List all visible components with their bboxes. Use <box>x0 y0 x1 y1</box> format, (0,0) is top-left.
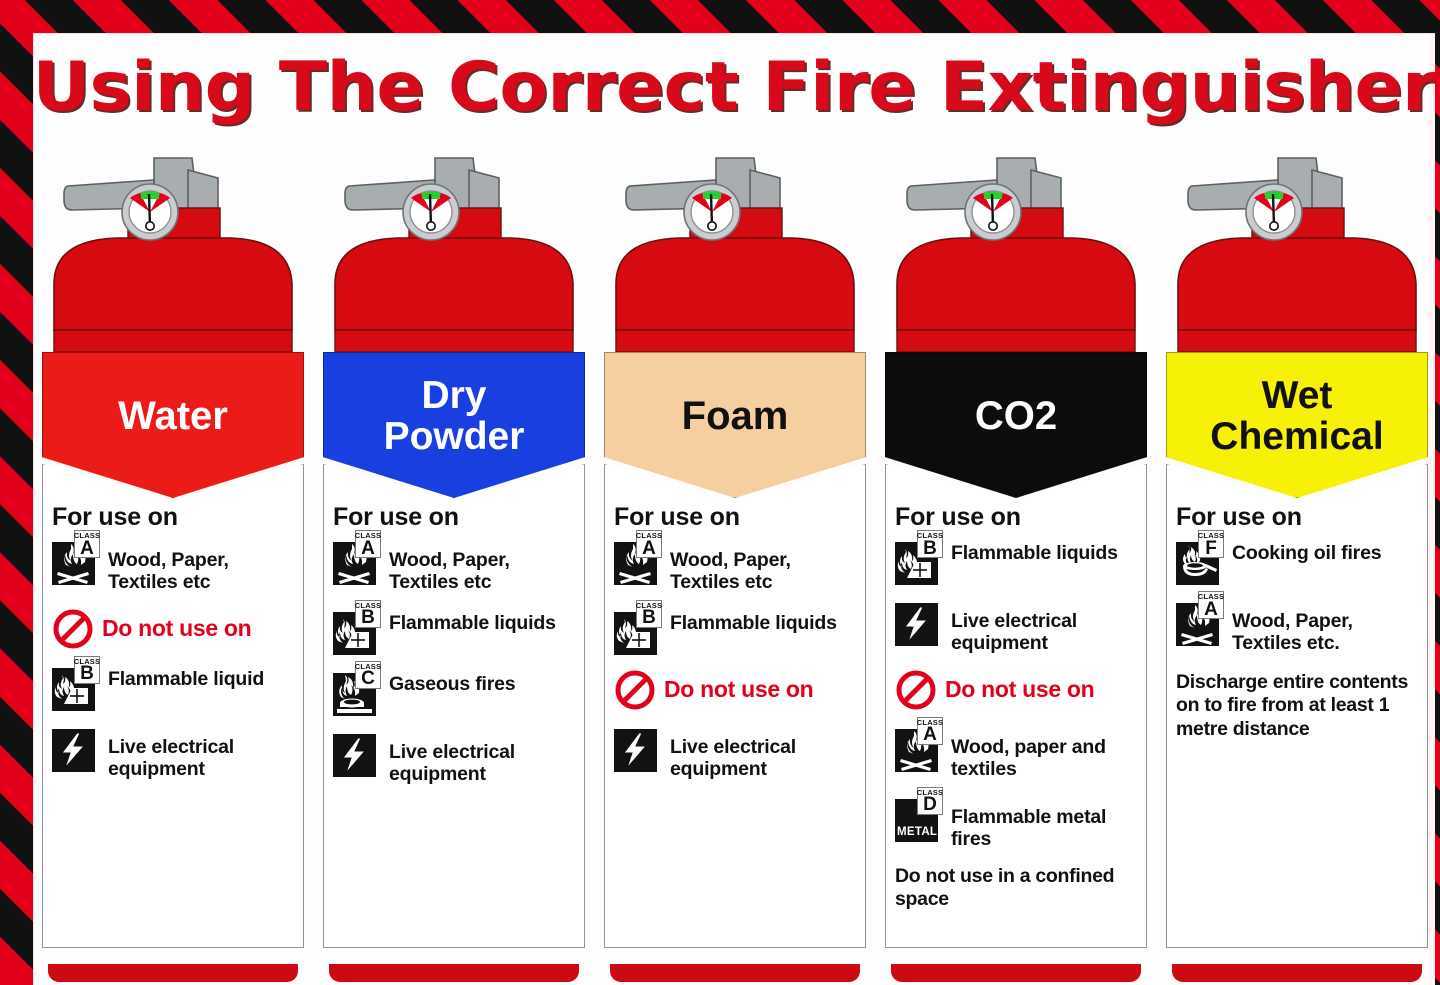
class-letter-label: A <box>361 539 375 558</box>
for-use-on-entry: CLASS A Wood, Paper,Textiles etc <box>614 538 857 594</box>
class-f-cooking-oil-icon: CLASS F <box>1176 538 1223 585</box>
for-use-on-heading: For use on <box>52 503 295 532</box>
extinguisher-head-icon <box>42 152 304 352</box>
extinguisher-base <box>610 964 860 982</box>
do-not-use-on-label: Do not use on <box>945 676 1094 703</box>
type-name-label: DryPowder <box>384 375 525 458</box>
class-a-wood-fire-icon: CLASS A <box>895 725 942 772</box>
class-badge-a: CLASS A <box>74 530 100 558</box>
class-badge-b: CLASS B <box>636 600 662 628</box>
entry-label: Live electricalequipment <box>670 725 796 781</box>
class-letter-label: B <box>361 608 375 627</box>
do-not-use-on-heading: Do not use on <box>895 669 1138 711</box>
do-not-use-on-heading: Do not use on <box>614 669 857 711</box>
class-letter-label: C <box>361 669 375 688</box>
lightning-bolt-icon <box>333 734 376 777</box>
for-use-on-heading: For use on <box>1176 503 1419 532</box>
extinguisher-base <box>48 964 298 982</box>
type-name-label: WetChemical <box>1210 375 1383 458</box>
entry-label: Flammable metalfires <box>951 795 1106 851</box>
lightning-bolt-icon <box>614 729 657 772</box>
pressure-gauge-icon <box>965 184 1021 240</box>
class-badge-a: CLASS A <box>355 530 381 558</box>
do-not-use-on-entry: METAL CLASS D Flammable metalfires <box>895 795 1138 851</box>
class-a-wood-fire-icon: CLASS A <box>333 538 380 585</box>
extinguisher-head-icon <box>323 152 585 352</box>
do-not-use-on-heading: Do not use on <box>52 608 295 650</box>
class-c-gas-fire-icon: CLASS C <box>333 669 380 716</box>
for-use-on-entry: CLASS B Flammable liquids <box>895 538 1138 585</box>
usage-info-panel: For use on CLASS A Wood, Paper,Textiles … <box>42 464 304 948</box>
no-entry-icon <box>895 669 937 711</box>
entry-label: Flammable liquid <box>108 664 264 690</box>
no-entry-icon <box>614 669 656 711</box>
class-letter-label: B <box>80 664 94 683</box>
class-badge-f: CLASS F <box>1198 530 1224 558</box>
pressure-gauge-icon <box>684 184 740 240</box>
lightning-bolt-icon <box>333 730 380 777</box>
for-use-on-entry: Live electricalequipment <box>333 730 576 786</box>
class-a-wood-fire-icon: CLASS A <box>52 538 99 585</box>
for-use-on-entry: CLASS A Wood, Paper,Textiles etc <box>333 538 576 594</box>
extinguisher-body-graphic <box>885 152 1147 352</box>
extinguisher-head-icon <box>1166 152 1428 352</box>
usage-info-panel: For use on CLASS A Wood, Paper,Textiles … <box>323 464 585 948</box>
class-badge-a: CLASS A <box>636 530 662 558</box>
extra-note: Do not use in a confined space <box>895 865 1138 912</box>
entry-label: Wood, paper andtextiles <box>951 725 1106 781</box>
extinguisher-body-graphic <box>323 152 585 352</box>
extinguisher-base <box>891 964 1141 982</box>
usage-info-panel: For use on CLASS F Cooking oil fires <box>1166 464 1428 948</box>
extinguisher-head-icon <box>885 152 1147 352</box>
extinguisher-columns: Water For use on CLASS A Wood, Paper,Tex… <box>42 152 1428 982</box>
do-not-use-on-label: Do not use on <box>664 676 813 703</box>
do-not-use-on-entry: Live electricalequipment <box>52 725 295 781</box>
extinguisher-card-foam[interactable]: Foam For use on CLASS A Wood, Paper,Text… <box>604 152 866 982</box>
extinguisher-card-wet-chemical[interactable]: WetChemical For use on CLASS F Co <box>1166 152 1428 982</box>
class-letter-label: F <box>1205 539 1217 558</box>
extinguisher-body-graphic <box>604 152 866 352</box>
class-letter-label: A <box>923 725 937 744</box>
entry-label: Flammable liquids <box>951 538 1118 564</box>
class-badge-a: CLASS A <box>917 717 943 745</box>
class-badge-b: CLASS B <box>917 530 943 558</box>
do-not-use-on-entry: CLASS A Wood, paper andtextiles <box>895 725 1138 781</box>
lightning-bolt-icon <box>52 729 95 772</box>
right-edge-guide <box>1429 34 1435 985</box>
class-b-flammable-liquid-icon: CLASS B <box>52 664 99 711</box>
for-use-on-entry: CLASS B Flammable liquids <box>614 608 857 655</box>
entry-label: Wood, Paper,Textiles etc. <box>1232 599 1353 655</box>
pressure-gauge-icon <box>1246 184 1302 240</box>
type-name-label: Water <box>118 395 228 437</box>
class-badge-c: CLASS C <box>355 661 381 689</box>
entry-label: Gaseous fires <box>389 669 515 695</box>
no-entry-icon <box>52 608 94 650</box>
entry-label: Live electricalequipment <box>108 725 234 781</box>
type-name-label: Foam <box>682 395 789 437</box>
metal-word-label: METAL <box>897 826 937 838</box>
class-b-flammable-liquid-icon: CLASS B <box>614 608 661 655</box>
entry-label: Live electricalequipment <box>389 730 515 786</box>
entry-label: Cooking oil fires <box>1232 538 1381 564</box>
class-d-metal-fire-icon: METAL CLASS D <box>895 795 942 842</box>
class-badge-a: CLASS A <box>1198 591 1224 619</box>
for-use-on-entry: CLASS A Wood, Paper,Textiles etc <box>52 538 295 594</box>
usage-info-panel: For use on CLASS A Wood, Paper,Textiles … <box>604 464 866 948</box>
extinguisher-card-water[interactable]: Water For use on CLASS A Wood, Paper,Tex… <box>42 152 304 982</box>
do-not-use-on-entry: Live electricalequipment <box>614 725 857 781</box>
pressure-gauge-icon <box>122 184 178 240</box>
for-use-on-heading: For use on <box>614 503 857 532</box>
class-a-wood-fire-icon: CLASS A <box>1176 599 1223 646</box>
extinguisher-card-dry-powder[interactable]: DryPowder For use on CLASS A Wood, Paper… <box>323 152 585 982</box>
extinguisher-card-co2[interactable]: CO2 For use on CLASS B Fla <box>885 152 1147 982</box>
poster-root: Using The Correct Fire Extinguisher <box>0 0 1440 985</box>
lightning-bolt-icon <box>895 603 938 646</box>
entry-label: Wood, Paper,Textiles etc <box>670 538 791 594</box>
class-letter-label: A <box>80 539 94 558</box>
class-badge-d: CLASS D <box>917 787 943 815</box>
for-use-on-entry: CLASS C Gaseous fires <box>333 669 576 716</box>
for-use-on-entry: CLASS F Cooking oil fires <box>1176 538 1419 585</box>
class-a-wood-fire-icon: CLASS A <box>614 538 661 585</box>
poster-sheet: Using The Correct Fire Extinguisher <box>33 33 1435 985</box>
extinguisher-body-graphic <box>42 152 304 352</box>
for-use-on-heading: For use on <box>333 503 576 532</box>
class-badge-b: CLASS B <box>74 656 100 684</box>
entry-label: Live electricalequipment <box>951 599 1077 655</box>
class-letter-label: D <box>923 795 937 814</box>
do-not-use-on-entry: CLASS B Flammable liquid <box>52 664 295 711</box>
entry-label: Flammable liquids <box>389 608 556 634</box>
page-title: Using The Correct Fire Extinguisher <box>33 48 1435 127</box>
entry-label: Wood, Paper,Textiles etc <box>108 538 229 594</box>
class-b-flammable-liquid-icon: CLASS B <box>333 608 380 655</box>
class-letter-label: A <box>642 539 656 558</box>
for-use-on-entry: CLASS B Flammable liquids <box>333 608 576 655</box>
entry-label: Flammable liquids <box>670 608 837 634</box>
extinguisher-base <box>1172 964 1422 982</box>
class-letter-label: B <box>642 608 656 627</box>
extinguisher-base <box>329 964 579 982</box>
for-use-on-entry: Live electricalequipment <box>895 599 1138 655</box>
usage-info-panel: For use on CLASS B Flammable liquids <box>885 464 1147 948</box>
lightning-bolt-icon <box>52 725 99 772</box>
extinguisher-head-icon <box>604 152 866 352</box>
for-use-on-entry: CLASS A Wood, Paper,Textiles etc. <box>1176 599 1419 655</box>
class-b-flammable-liquid-icon: CLASS B <box>895 538 942 585</box>
pressure-gauge-icon <box>403 184 459 240</box>
extra-note: Discharge entire contents on to fire fro… <box>1176 671 1419 741</box>
extinguisher-body-graphic <box>1166 152 1428 352</box>
class-letter-label: B <box>923 539 937 558</box>
type-name-label: CO2 <box>975 395 1057 437</box>
do-not-use-on-label: Do not use on <box>102 615 251 642</box>
entry-label: Wood, Paper,Textiles etc <box>389 538 510 594</box>
for-use-on-heading: For use on <box>895 503 1138 532</box>
class-badge-b: CLASS B <box>355 600 381 628</box>
class-letter-label: A <box>1204 600 1218 619</box>
lightning-bolt-icon <box>614 725 661 772</box>
lightning-bolt-icon <box>895 599 942 646</box>
